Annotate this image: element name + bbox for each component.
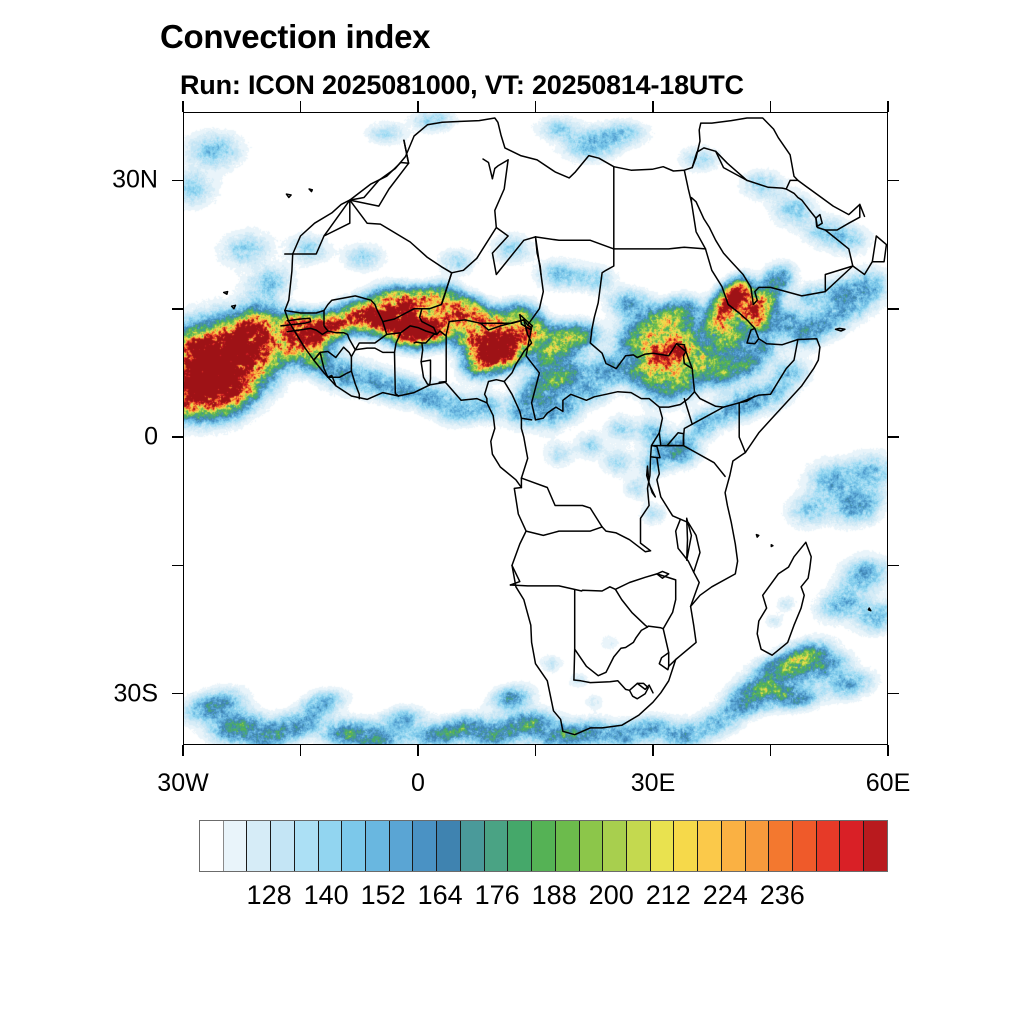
x-tick bbox=[770, 745, 772, 756]
x-tick bbox=[652, 745, 654, 756]
y-tick bbox=[172, 565, 183, 567]
colorbar-label-164: 164 bbox=[418, 880, 463, 911]
colorbar-cell bbox=[769, 821, 793, 871]
colorbar-cell bbox=[461, 821, 485, 871]
y-tick bbox=[172, 436, 183, 438]
colorbar-label-200: 200 bbox=[589, 880, 634, 911]
x-tick bbox=[887, 745, 889, 756]
country-borders-overlay bbox=[183, 112, 888, 745]
x-tick-top bbox=[887, 101, 889, 112]
x-tick-top bbox=[770, 101, 772, 112]
colorbar-cell bbox=[580, 821, 604, 871]
y-tick-right bbox=[888, 693, 899, 695]
y-tick-right bbox=[888, 436, 899, 438]
lon-label-60E: 60E bbox=[866, 769, 910, 798]
y-tick bbox=[172, 180, 183, 182]
colorbar-cell bbox=[817, 821, 841, 871]
colorbar-cell bbox=[722, 821, 746, 871]
colorbar-cell bbox=[366, 821, 390, 871]
page-title: Convection index bbox=[160, 18, 430, 56]
colorbar-cell bbox=[840, 821, 864, 871]
map-plot-area bbox=[183, 112, 888, 745]
y-tick bbox=[172, 308, 183, 310]
colorbar-cell bbox=[532, 821, 556, 871]
colorbar-cell bbox=[413, 821, 437, 871]
colorbar-label-224: 224 bbox=[703, 880, 748, 911]
colorbar-label-128: 128 bbox=[247, 880, 292, 911]
colorbar-cell bbox=[319, 821, 343, 871]
convection-index-figure: Convection index Run: ICON 2025081000, V… bbox=[0, 0, 1024, 1024]
colorbar-cell bbox=[793, 821, 817, 871]
x-tick bbox=[417, 745, 419, 756]
colorbar-cell bbox=[556, 821, 580, 871]
x-tick-top bbox=[417, 101, 419, 112]
lat-label-0: 0 bbox=[63, 423, 158, 452]
colorbar-cell bbox=[247, 821, 271, 871]
y-tick-right bbox=[888, 308, 899, 310]
colorbar-label-236: 236 bbox=[760, 880, 805, 911]
colorbar-cell bbox=[864, 821, 887, 871]
x-tick bbox=[535, 745, 537, 756]
colorbar-cell bbox=[627, 821, 651, 871]
colorbar-cell bbox=[698, 821, 722, 871]
lon-label-0: 0 bbox=[411, 769, 425, 798]
run-valid-time-subtitle: Run: ICON 2025081000, VT: 20250814-18UTC bbox=[180, 70, 744, 101]
colorbar-cell bbox=[224, 821, 248, 871]
colorbar-label-212: 212 bbox=[646, 880, 691, 911]
colorbar-cell bbox=[485, 821, 509, 871]
lon-label-30E: 30E bbox=[631, 769, 675, 798]
colorbar bbox=[199, 820, 888, 872]
colorbar-cell bbox=[437, 821, 461, 871]
colorbar-label-176: 176 bbox=[475, 880, 520, 911]
colorbar-cell bbox=[603, 821, 627, 871]
y-tick bbox=[172, 693, 183, 695]
lat-label-30N: 30N bbox=[63, 166, 158, 195]
colorbar-cell bbox=[746, 821, 770, 871]
colorbar-cell bbox=[342, 821, 366, 871]
x-tick-top bbox=[182, 101, 184, 112]
colorbar-cell bbox=[508, 821, 532, 871]
lon-label-30W: 30W bbox=[157, 769, 208, 798]
colorbar-cell bbox=[295, 821, 319, 871]
colorbar-tick-labels: 128140152164176188200212224236 bbox=[199, 880, 888, 914]
colorbar-label-152: 152 bbox=[361, 880, 406, 911]
x-tick-top bbox=[535, 101, 537, 112]
colorbar-cell bbox=[651, 821, 675, 871]
lat-label-30S: 30S bbox=[63, 679, 158, 708]
colorbar-cell bbox=[271, 821, 295, 871]
colorbar-label-188: 188 bbox=[532, 880, 577, 911]
y-tick-right bbox=[888, 180, 899, 182]
colorbar-label-140: 140 bbox=[304, 880, 349, 911]
colorbar-cell bbox=[200, 821, 224, 871]
x-tick bbox=[300, 745, 302, 756]
x-tick-top bbox=[652, 101, 654, 112]
x-tick-top bbox=[300, 101, 302, 112]
colorbar-cell bbox=[674, 821, 698, 871]
colorbar-cell bbox=[390, 821, 414, 871]
y-tick-right bbox=[888, 565, 899, 567]
x-tick bbox=[182, 745, 184, 756]
